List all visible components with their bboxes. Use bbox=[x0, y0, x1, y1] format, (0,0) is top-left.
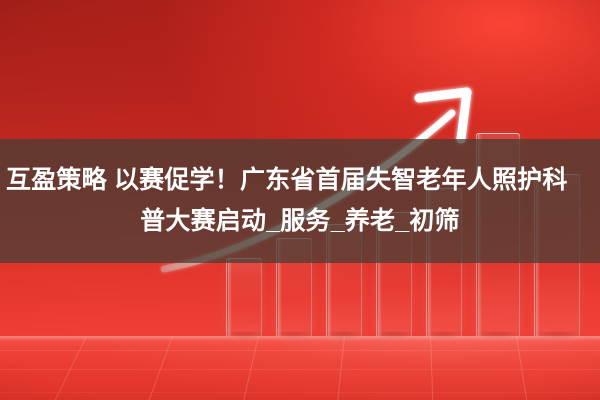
headline-line-2: 普大赛启动_服务_养老_初筛 bbox=[6, 201, 594, 242]
headline-text: 互盈策略 以赛促学！广东省首届失智老年人照护科 普大赛启动_服务_养老_初筛 bbox=[0, 160, 600, 242]
banner-image: 互盈策略 以赛促学！广东省首届失智老年人照护科 普大赛启动_服务_养老_初筛 bbox=[0, 0, 600, 400]
bar-1 bbox=[226, 258, 262, 336]
headline-line-1: 互盈策略 以赛促学！广东省首届失智老年人照护科 bbox=[6, 160, 594, 201]
caption-band: 互盈策略 以赛促学！广东省首届失智老年人照护科 普大赛启动_服务_养老_初筛 bbox=[0, 139, 600, 263]
